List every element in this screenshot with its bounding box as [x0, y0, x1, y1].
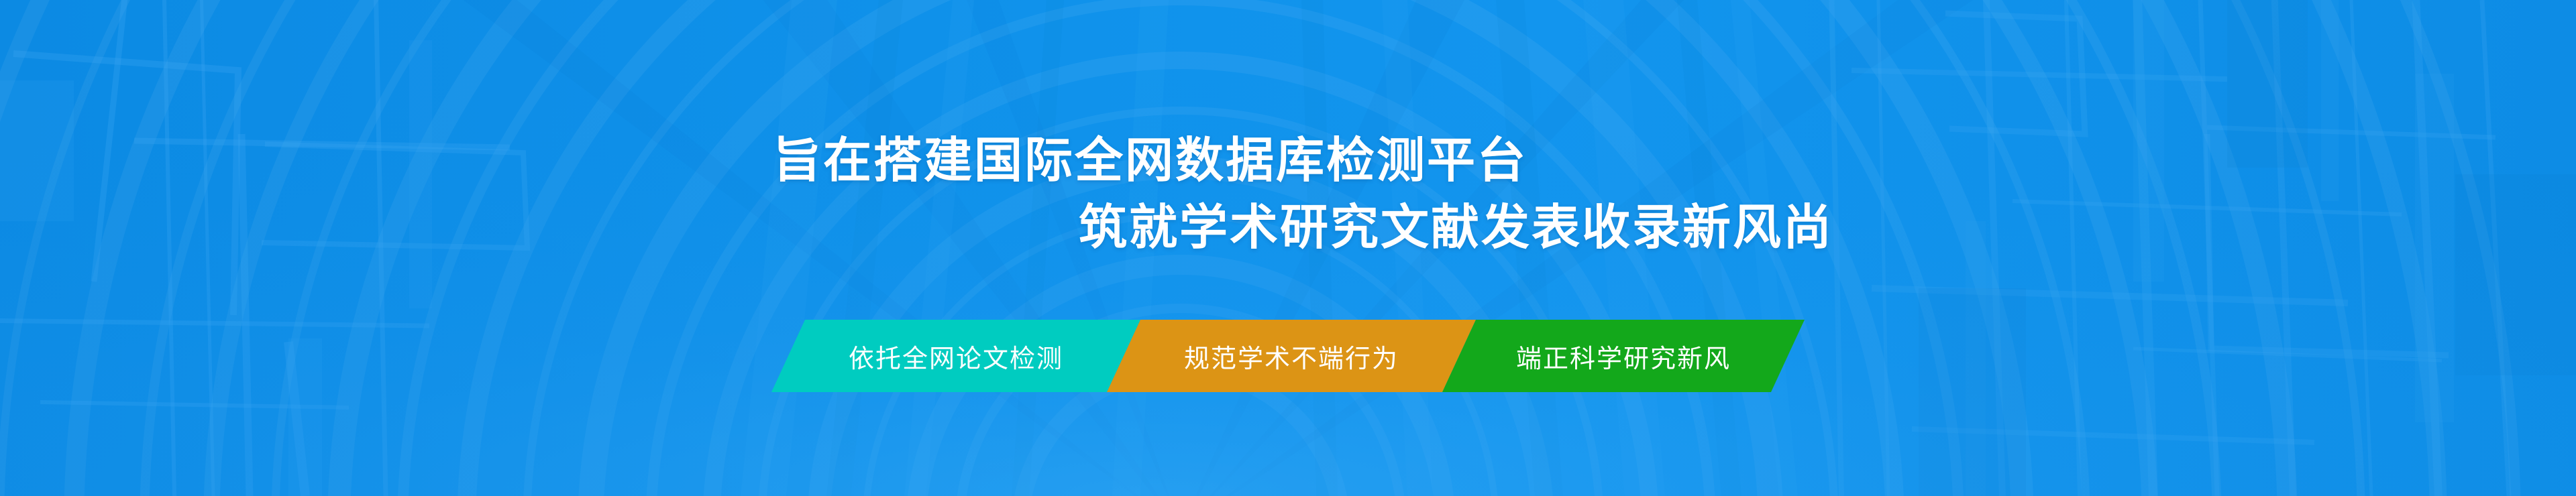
headline-block: 旨在搭建国际全网数据库检测平台 筑就学术研究文献发表收录新风尚 [0, 127, 2576, 261]
hero-banner: 旨在搭建国际全网数据库检测平台 筑就学术研究文献发表收录新风尚 依托全网论文检测… [0, 0, 2576, 496]
feature-tabs: 依托全网论文检测 规范学术不端行为 端正科学研究新风 [771, 320, 1805, 392]
tab-academic-misconduct[interactable]: 规范学术不端行为 [1107, 320, 1476, 392]
tab-academic-misconduct-label: 规范学术不端行为 [1184, 338, 1399, 375]
tab-research-integrity-label: 端正科学研究新风 [1516, 338, 1731, 375]
tab-paper-detection-label: 依托全网论文检测 [849, 338, 1063, 375]
tab-research-integrity[interactable]: 端正科学研究新风 [1442, 320, 1805, 392]
headline-line-2: 筑就学术研究文献发表收录新风尚 [1079, 194, 2576, 261]
tab-paper-detection[interactable]: 依托全网论文检测 [771, 320, 1140, 392]
headline-line-1: 旨在搭建国际全网数据库检测平台 [773, 127, 2576, 194]
